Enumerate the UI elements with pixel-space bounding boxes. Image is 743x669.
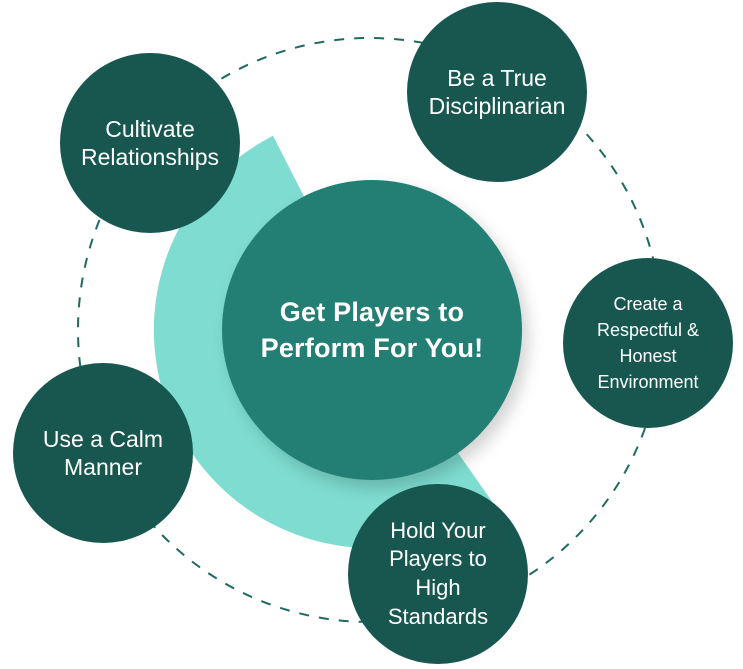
satellite-create-respectful-honest-environment-label: Create a Respectful & Honest Environment <box>591 291 705 395</box>
satellite-cultivate-relationships-label: Cultivate Relationships <box>75 115 225 171</box>
center-hub-label: Get Players to Perform For You! <box>255 294 490 367</box>
satellite-hold-players-high-standards[interactable]: Hold Your Players to High Standards <box>348 484 528 664</box>
satellite-use-a-calm-manner-label: Use a Calm Manner <box>37 425 169 481</box>
satellite-be-a-true-disciplinarian-label: Be a True Disciplinarian <box>423 64 572 120</box>
satellite-be-a-true-disciplinarian[interactable]: Be a True Disciplinarian <box>407 2 587 182</box>
satellite-hold-players-high-standards-label: Hold Your Players to High Standards <box>382 517 494 631</box>
diagram-canvas: Get Players to Perform For You! Cultivat… <box>0 0 743 669</box>
satellite-create-respectful-honest-environment[interactable]: Create a Respectful & Honest Environment <box>563 258 733 428</box>
satellite-use-a-calm-manner[interactable]: Use a Calm Manner <box>13 363 193 543</box>
satellite-cultivate-relationships[interactable]: Cultivate Relationships <box>60 53 240 233</box>
center-hub[interactable]: Get Players to Perform For You! <box>222 180 522 480</box>
